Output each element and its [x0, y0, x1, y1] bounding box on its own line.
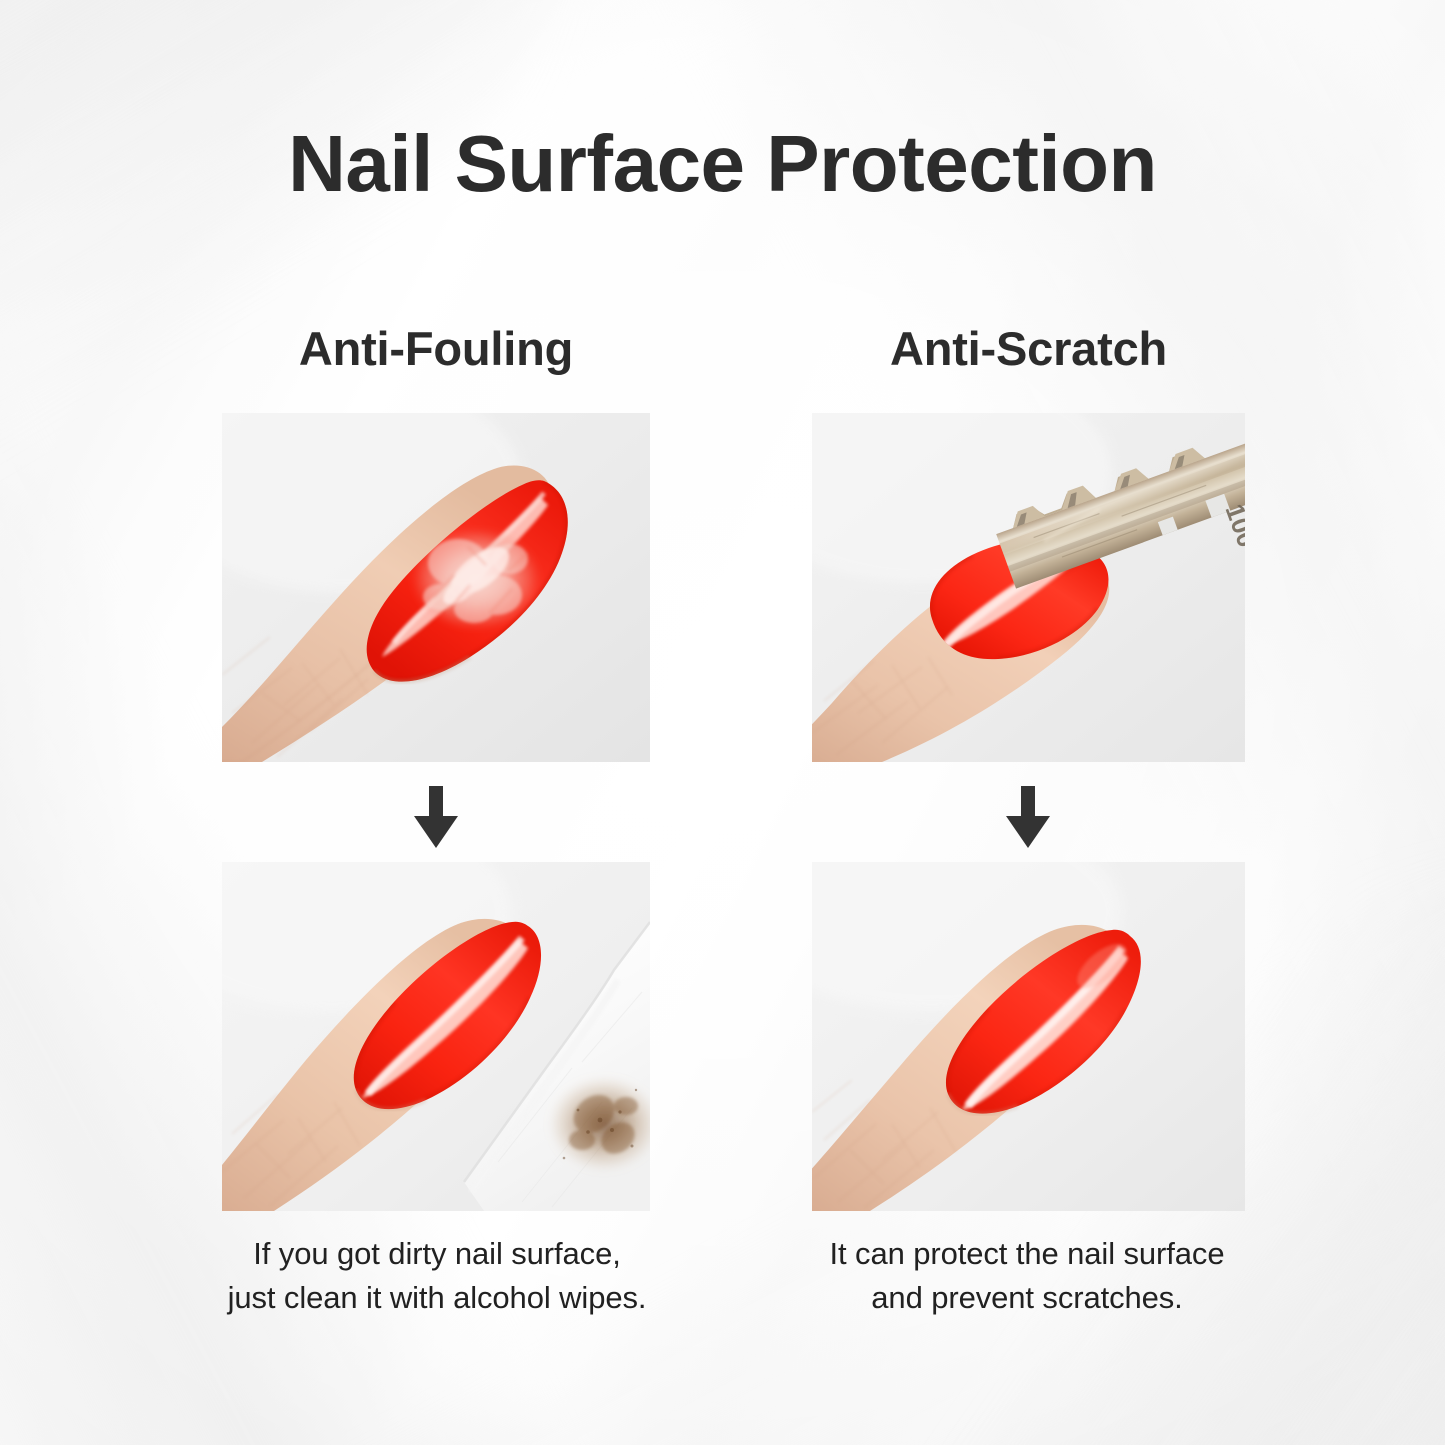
caption-anti-scratch-line2: and prevent scratches. — [762, 1276, 1292, 1320]
caption-anti-fouling: If you got dirty nail surface, just clea… — [182, 1232, 692, 1320]
column-heading-anti-fouling: Anti-Fouling — [222, 325, 650, 372]
poster-canvas: Nail Surface Protection Anti-Fouling Ant… — [0, 0, 1445, 1445]
photo-anti-fouling-after — [222, 862, 650, 1211]
caption-anti-fouling-line1: If you got dirty nail surface, — [182, 1232, 692, 1276]
photo-anti-scratch-before: 100 — [812, 413, 1245, 762]
photo-anti-scratch-after — [812, 862, 1245, 1211]
arrow-down-icon-anti-scratch — [1005, 786, 1051, 848]
page-title: Nail Surface Protection — [0, 124, 1445, 204]
caption-anti-scratch: It can protect the nail surface and prev… — [762, 1232, 1292, 1320]
caption-anti-scratch-line1: It can protect the nail surface — [762, 1232, 1292, 1276]
caption-anti-fouling-line2: just clean it with alcohol wipes. — [182, 1276, 692, 1320]
arrow-down-icon-anti-fouling — [413, 786, 459, 848]
column-heading-anti-scratch: Anti-Scratch — [812, 325, 1245, 372]
photo-anti-fouling-before — [222, 413, 650, 762]
